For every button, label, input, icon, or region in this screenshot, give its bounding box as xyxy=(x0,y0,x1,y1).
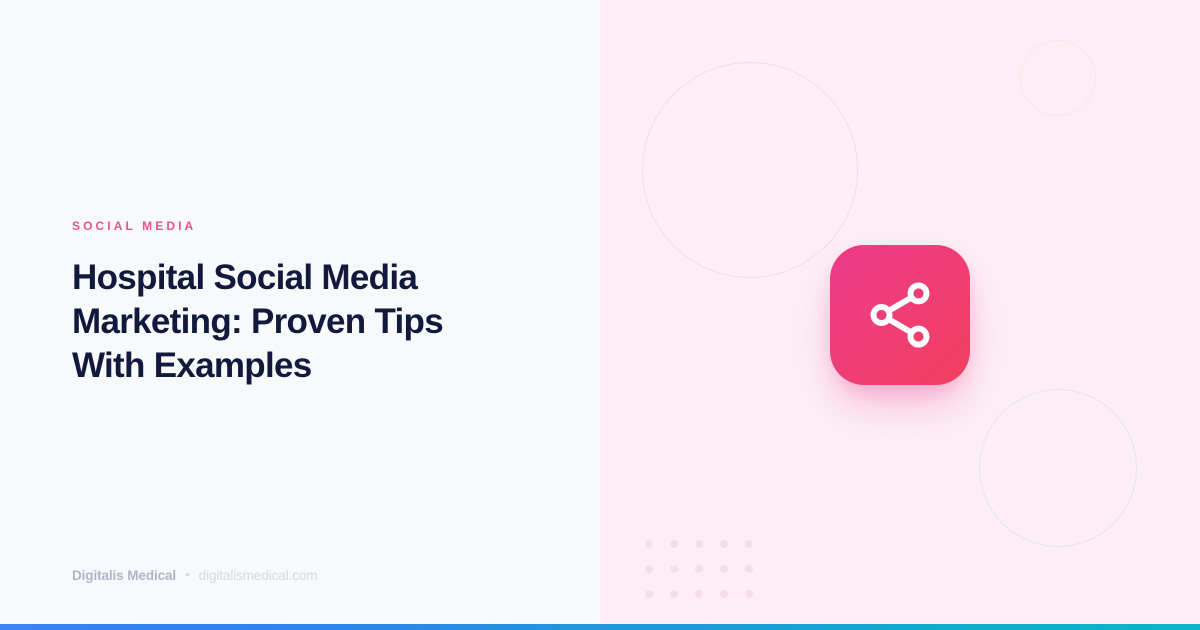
grid-dot xyxy=(645,590,653,598)
share-icon xyxy=(863,278,937,352)
right-visual-panel xyxy=(600,0,1200,630)
left-content-panel: SOCIAL MEDIA Hospital Social Media Marke… xyxy=(0,0,600,630)
footer-attribution: Digitalis Medical • digitalismedical.com xyxy=(72,568,317,583)
grid-dot xyxy=(745,565,753,573)
grid-dot xyxy=(645,540,653,548)
page-title: Hospital Social Media Marketing: Proven … xyxy=(72,256,512,388)
grid-dot xyxy=(645,565,653,573)
grid-dot xyxy=(720,540,728,548)
site-url: digitalismedical.com xyxy=(199,568,318,583)
grid-dot xyxy=(670,590,678,598)
grid-dot xyxy=(695,590,703,598)
grid-dot xyxy=(745,590,753,598)
decorative-dot-grid xyxy=(645,540,770,615)
bullet-separator-icon: • xyxy=(185,568,190,581)
decorative-circle-small xyxy=(1020,40,1096,116)
left-content-inner: SOCIAL MEDIA Hospital Social Media Marke… xyxy=(72,0,544,630)
grid-dot xyxy=(720,590,728,598)
grid-dot xyxy=(670,540,678,548)
social-share-card: SOCIAL MEDIA Hospital Social Media Marke… xyxy=(0,0,1200,630)
brand-name: Digitalis Medical xyxy=(72,568,176,583)
category-eyebrow: SOCIAL MEDIA xyxy=(72,219,196,233)
grid-dot xyxy=(745,540,753,548)
grid-dot xyxy=(695,565,703,573)
grid-dot xyxy=(670,565,678,573)
bottom-accent-bar xyxy=(0,624,1200,630)
decorative-circle-lavender xyxy=(979,389,1137,547)
share-icon-tile xyxy=(830,245,970,385)
grid-dot xyxy=(720,565,728,573)
decorative-circle-large xyxy=(642,62,858,278)
grid-dot xyxy=(695,540,703,548)
